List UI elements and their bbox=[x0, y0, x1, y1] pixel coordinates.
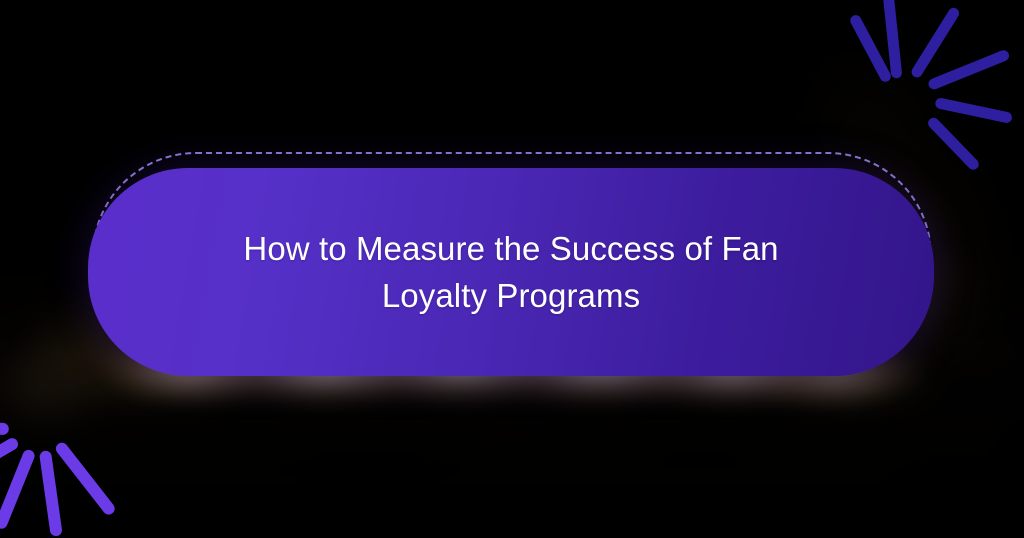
page-title: How to Measure the Success of Fan Loyalt… bbox=[191, 225, 831, 319]
sparkle-burst-bottom-left-icon bbox=[35, 418, 36, 419]
sparkle-burst-top-right-icon bbox=[905, 96, 906, 97]
hero-banner: How to Measure the Success of Fan Loyalt… bbox=[0, 0, 1024, 538]
hero-title-card: How to Measure the Success of Fan Loyalt… bbox=[88, 168, 934, 376]
